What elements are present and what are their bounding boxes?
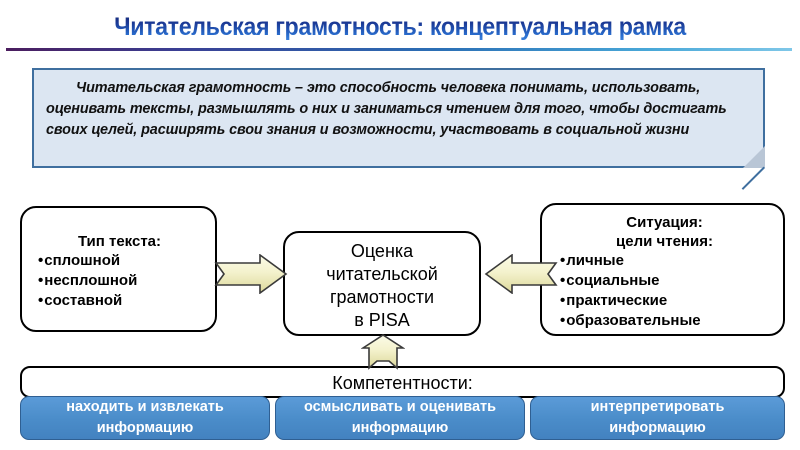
pisa-assessment-text: Оценка читательской грамотности в PISA [285, 233, 479, 332]
chip-line-1: интерпретировать [591, 399, 725, 415]
text-type-list: сплошной несплошной составной [30, 251, 209, 311]
definition-callout: Читательская грамотность – это способнос… [32, 68, 765, 168]
chip-line-2: информацию [609, 420, 706, 436]
pisa-line-2: читательской [289, 263, 475, 286]
text-type-box: Тип текста: сплошной несплошной составно… [20, 206, 217, 332]
list-item: несплошной [38, 271, 209, 291]
competency-chip-find-extract[interactable]: находить и извлекать информацию [20, 396, 270, 440]
folded-corner-icon [743, 146, 765, 168]
situation-list: личные социальные практические образоват… [552, 251, 777, 331]
list-item: составной [38, 291, 209, 311]
competencies-box: Компетентности: [20, 366, 785, 398]
folded-corner-edge-icon [742, 167, 765, 190]
list-item: образовательные [560, 311, 777, 331]
chip-line-2: информацию [97, 420, 194, 436]
competency-chip-reflect-evaluate[interactable]: осмысливать и оценивать информацию [275, 396, 525, 440]
page-title: Читательская грамотность: концептуальная… [28, 12, 772, 42]
chip-line-2: информацию [352, 420, 449, 436]
chip-line-1: осмысливать и оценивать [304, 399, 496, 415]
arrow-right-icon [214, 254, 288, 294]
pisa-line-4: в PISA [289, 309, 475, 332]
situation-heading-1: Ситуация: [552, 213, 777, 232]
competencies-heading: Компетентности: [22, 368, 783, 398]
list-item: сплошной [38, 251, 209, 271]
situation-box: Ситуация: цели чтения: личные социальные… [540, 203, 785, 336]
list-item: практические [560, 291, 777, 311]
chip-line-1: находить и извлекать [66, 399, 224, 415]
pisa-assessment-box: Оценка читательской грамотности в PISA [283, 231, 481, 336]
pisa-line-3: грамотности [289, 286, 475, 309]
pisa-line-1: Оценка [289, 240, 475, 263]
definition-text: Читательская грамотность – это способнос… [46, 78, 752, 141]
arrow-left-icon [484, 254, 558, 294]
situation-heading-2: цели чтения: [552, 232, 777, 251]
list-item: личные [560, 251, 777, 271]
text-type-heading: Тип текста: [30, 232, 209, 251]
list-item: социальные [560, 271, 777, 291]
competency-chip-interpret[interactable]: интерпретировать информацию [530, 396, 785, 440]
title-divider [6, 48, 792, 51]
arrow-up-icon [361, 334, 405, 370]
